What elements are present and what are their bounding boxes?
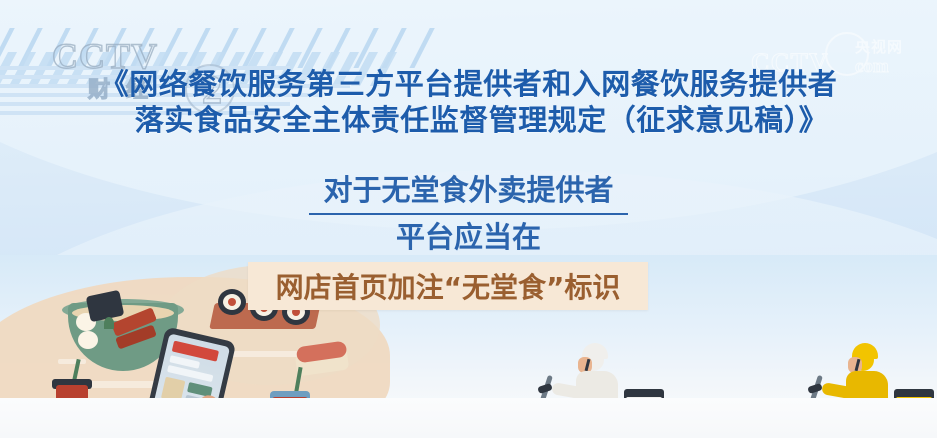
subhead-block-2: 平台应当在 — [0, 218, 937, 256]
watermark-com-text: com — [855, 56, 889, 78]
status-badge: 网店首页加注“无堂食”标识 — [248, 262, 648, 310]
egg-icon — [78, 331, 98, 349]
subhead-block-1: 对于无堂食外卖提供者 — [0, 172, 937, 215]
ground-strip — [0, 398, 937, 438]
herb-icon — [104, 317, 114, 329]
logo-channel-name: 财经 — [88, 72, 164, 104]
logo-cctv-text: CCTV — [52, 36, 258, 76]
cctv-com-watermark: CCTV 央视网 com — [751, 30, 921, 82]
cctv-channel-logo: CCTV 2 — [52, 36, 258, 76]
decorative-dash — [228, 351, 300, 357]
watermark-cn-text: 央视网 — [855, 36, 903, 57]
logo-channel-number: 2 — [202, 66, 222, 113]
watermark-cctv-text: CCTV — [751, 48, 829, 78]
sushi-roll-icon — [218, 289, 246, 315]
subhead-line-1: 对于无堂食外卖提供者 — [309, 172, 627, 215]
broadcast-screen: CCTV 2 财经 CCTV 央视网 com 《网络餐饮服务第三方平台提供者和入… — [0, 0, 937, 438]
decorative-dash — [58, 359, 86, 364]
callout-text: 网店首页加注“无堂食”标识 — [276, 266, 621, 306]
line-band — [0, 84, 350, 88]
subhead-line-2: 平台应当在 — [0, 218, 937, 256]
